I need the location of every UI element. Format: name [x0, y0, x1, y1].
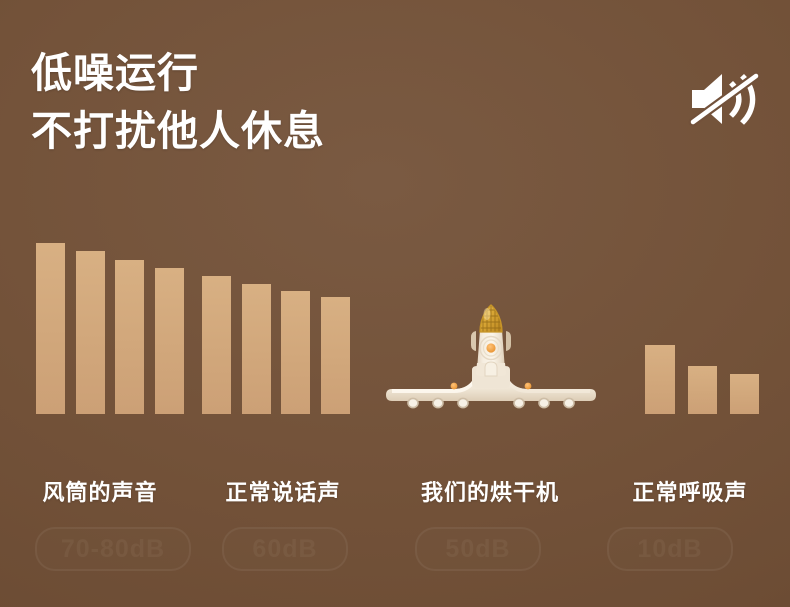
- bar: [155, 268, 184, 414]
- page-title: 低噪运行 不打扰他人休息: [31, 44, 325, 160]
- db-badge-breathing: 10dB: [607, 527, 733, 571]
- db-badge-our-dryer: 50dB: [415, 527, 541, 571]
- bar: [645, 345, 675, 414]
- bar: [76, 251, 105, 414]
- db-badge-hairdryer: 70-80dB: [35, 527, 191, 571]
- bar: [202, 276, 231, 414]
- category-label-breathing: 正常呼吸声: [632, 475, 747, 507]
- bar: [688, 366, 717, 414]
- headline-line-2: 不打扰他人休息: [31, 102, 325, 160]
- noise-comparison-poster: 低噪运行 不打扰他人休息: [0, 0, 790, 607]
- bar: [730, 374, 759, 414]
- bar: [281, 291, 310, 414]
- headline-line-1: 低噪运行: [31, 44, 325, 102]
- category-label-our-dryer: 我们的烘干机: [421, 475, 559, 507]
- category-label-speech: 正常说话声: [225, 475, 340, 507]
- db-badge-speech: 60dB: [222, 527, 348, 571]
- category-label-hairdryer: 风筒的声音: [42, 475, 157, 507]
- bar: [242, 284, 271, 414]
- bar: [115, 260, 144, 414]
- bar: [321, 297, 350, 414]
- product-image-dryer: [380, 300, 602, 418]
- bar: [36, 243, 65, 414]
- mute-speaker-icon: [688, 68, 760, 130]
